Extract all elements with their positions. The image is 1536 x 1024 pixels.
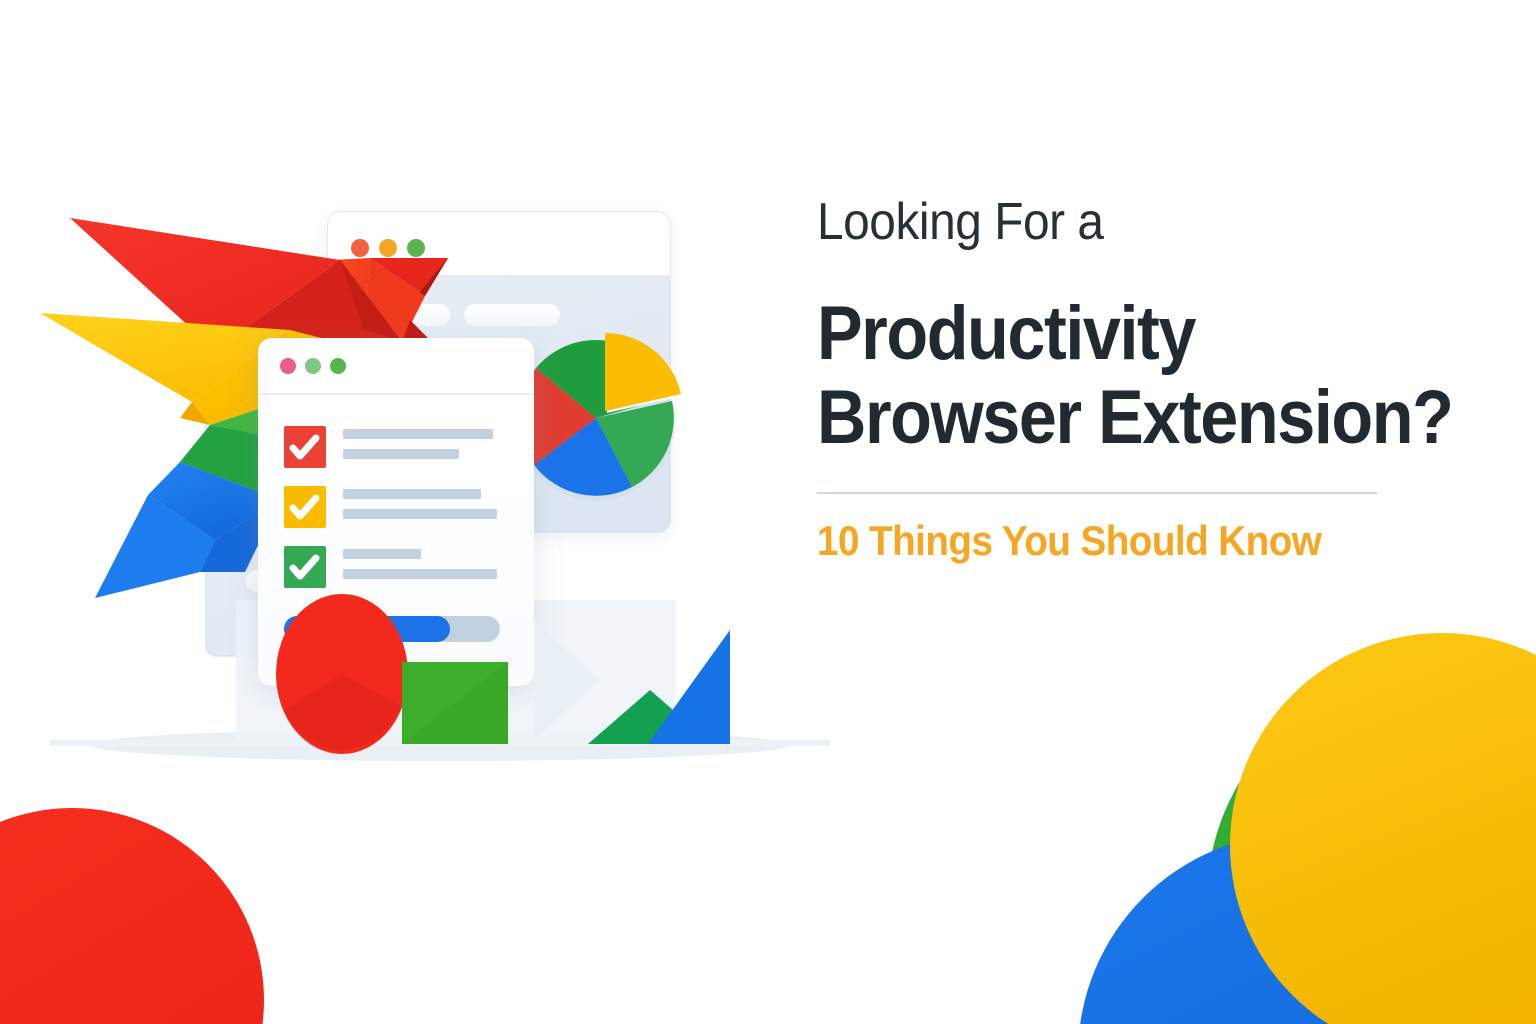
window-dot-green bbox=[407, 239, 425, 257]
subheadline-text: 10 Things You Should Know bbox=[817, 518, 1369, 564]
skeleton-line bbox=[343, 509, 497, 519]
eyebrow-text: Looking For a bbox=[817, 196, 1369, 248]
toolbar-pill-2 bbox=[464, 304, 560, 326]
text-block: Looking For a Productivity Browser Exten… bbox=[817, 196, 1417, 565]
window-dot-pink bbox=[280, 358, 296, 374]
divider-rule bbox=[817, 492, 1377, 494]
skeleton-line bbox=[343, 489, 481, 499]
banner-canvas: Looking For a Productivity Browser Exten… bbox=[0, 0, 1536, 1024]
skeleton-line bbox=[343, 449, 459, 459]
corner-circle-yellow-bottom-right bbox=[1230, 633, 1536, 1024]
hero-illustration bbox=[40, 200, 840, 780]
window-dot-lightgreen bbox=[305, 358, 321, 374]
headline-line-1: Productivity bbox=[817, 290, 1357, 378]
corner-circle-green-bottom-right bbox=[1207, 670, 1536, 1024]
skeleton-line bbox=[343, 549, 421, 559]
skeleton-line bbox=[343, 569, 497, 579]
corner-circle-red-bottom-left bbox=[0, 808, 264, 1024]
window-dot-yellow bbox=[379, 239, 397, 257]
corner-circle-blue-bottom-right bbox=[1078, 833, 1522, 1024]
window-dot-green bbox=[330, 358, 346, 374]
skeleton-line bbox=[343, 429, 493, 439]
window-dot-red bbox=[351, 239, 369, 257]
headline-line-2: Browser Extension? bbox=[817, 374, 1357, 462]
